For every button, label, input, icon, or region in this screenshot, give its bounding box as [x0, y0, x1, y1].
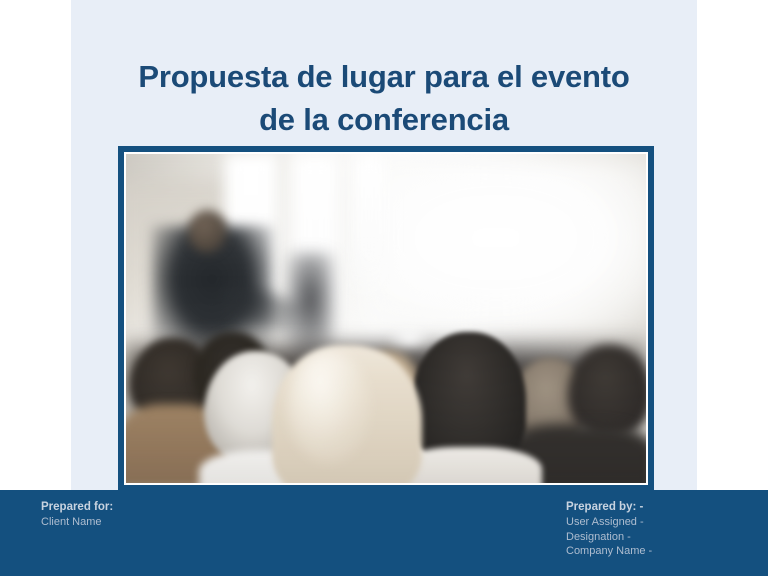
conference-audience-photo — [126, 154, 646, 483]
slide-footer-bar — [0, 490, 768, 576]
photo-haze-overlay — [126, 154, 646, 483]
prepared-for-heading: Prepared for: — [41, 500, 113, 515]
prepared-for-client-name: Client Name — [41, 515, 113, 530]
page-title: Propuesta de lugar para el evento de la … — [71, 55, 697, 141]
prepared-by-block: Prepared by: - User Assigned - Designati… — [566, 500, 652, 559]
prepared-by-company-name: Company Name - — [566, 544, 652, 559]
prepared-for-block: Prepared for: Client Name — [41, 500, 113, 530]
prepared-by-user-assigned: User Assigned - — [566, 515, 652, 530]
image-frame-inner — [124, 152, 648, 485]
image-frame — [118, 146, 654, 491]
prepared-by-heading: Prepared by: - — [566, 500, 652, 515]
prepared-by-designation: Designation - — [566, 530, 652, 545]
presentation-slide: Propuesta de lugar para el evento de la … — [0, 0, 768, 576]
